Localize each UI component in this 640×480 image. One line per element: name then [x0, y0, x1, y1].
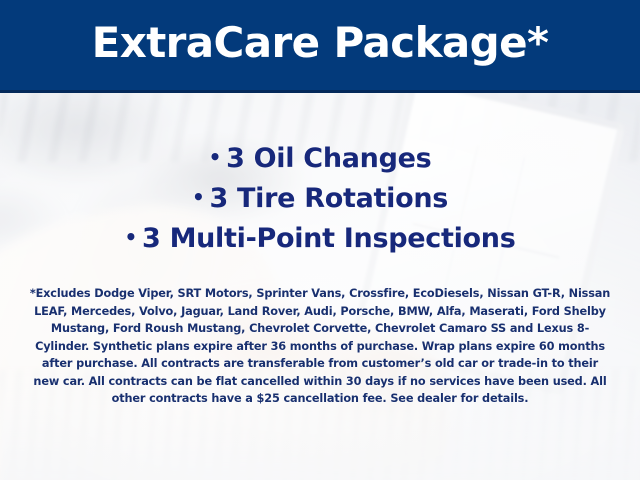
- benefit-item-multi-point-inspections: •3 Multi-Point Inspections: [0, 218, 640, 258]
- bullet-icon: •: [125, 225, 137, 249]
- benefit-item-tire-rotations: •3 Tire Rotations: [0, 178, 640, 218]
- benefit-label: 3 Tire Rotations: [209, 183, 448, 214]
- header-band: ExtraCare Package*: [0, 0, 640, 93]
- benefit-label: 3 Multi-Point Inspections: [142, 223, 516, 254]
- benefit-item-oil-changes: •3 Oil Changes: [0, 138, 640, 178]
- extracare-package-banner: ExtraCare Package* •3 Oil Changes •3 Tir…: [0, 0, 640, 480]
- benefits-list: •3 Oil Changes •3 Tire Rotations •3 Mult…: [0, 138, 640, 258]
- page-title: ExtraCare Package*: [92, 22, 549, 68]
- bullet-icon: •: [209, 145, 221, 169]
- disclaimer-text: *Excludes Dodge Viper, SRT Motors, Sprin…: [28, 285, 612, 408]
- benefit-label: 3 Oil Changes: [226, 143, 431, 174]
- bullet-icon: •: [192, 185, 204, 209]
